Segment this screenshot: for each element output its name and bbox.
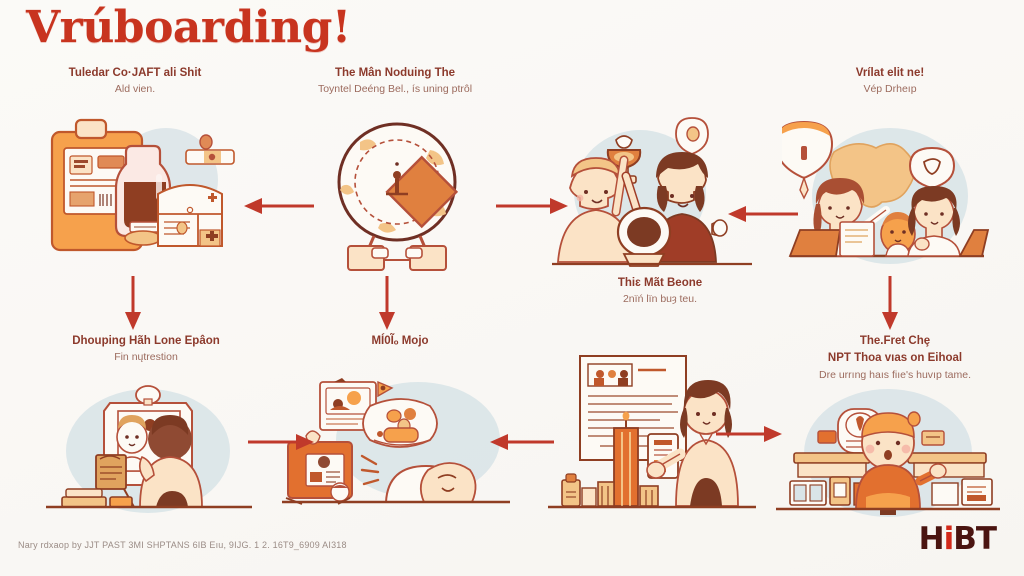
logo-text-i: i: [944, 521, 954, 557]
arrow-step7-to-step6: [490, 432, 556, 452]
caption-step-5: Dhouping Hãh Lone Epâon Fin nųtrestion: [18, 334, 274, 365]
caption-step-5-heading: Dhouping Hãh Lone Epâon: [18, 334, 274, 348]
caption-step-8-heading-line2: NPT Thoa vıas on Eihoal: [770, 351, 1020, 365]
caption-step-8-heading: The.Fret Chȩ: [770, 334, 1020, 348]
illustration-two-people-trophy-celebration: [552, 112, 752, 270]
illustration-person-shop-counter: [772, 385, 1004, 517]
arrow-step2-to-step3: [496, 196, 568, 216]
caption-step-4-heading: Vrílat elit ne!: [790, 66, 990, 80]
caption-step-2-subheading: Toyntel Deéng Bel., ís uning ptrôl: [270, 83, 520, 96]
illustration-person-easel-painting: [40, 385, 260, 517]
caption-step-8: The.Fret Chȩ NPT Thoa vıas on Eihoal Dre…: [770, 334, 1020, 382]
illustration-tv-tray-sleeping-figure: [282, 378, 514, 510]
logo-text-bt: BT: [953, 521, 996, 557]
arrow-step7-to-step8: [716, 424, 782, 444]
caption-step-4: Vrílat elit ne! Vép Drheıp: [790, 66, 990, 97]
caption-step-1: Tuledar Co·JAFT ali Shit Ald vien.: [20, 66, 250, 97]
caption-step-6: MÍ0Ĩₒ Mojo: [300, 334, 500, 351]
illustration-clipboard-bottle-cabinet: [38, 118, 268, 283]
arrow-step5-to-step6: [248, 432, 314, 452]
caption-step-3: Thiɛ Mãt Beone 2nïń lïn buȝ teu.: [540, 276, 780, 307]
caption-step-8-subheading: Dre urrıng haıs fiıe's huvıp tame.: [770, 369, 1020, 382]
page-title: Vrúboarding!: [26, 2, 351, 53]
caption-step-2-heading: The Mân Noduing The: [270, 66, 520, 80]
caption-step-2: The Mân Noduing The Toyntel Deéng Bel., …: [270, 66, 520, 97]
caption-step-3-subheading: 2nïń lïn buȝ teu.: [540, 293, 780, 306]
infographic-poster: Vrúboarding! Tuledar Co·JAFT ali Shit Al…: [0, 0, 1024, 576]
caption-step-6-heading: MÍ0Ĩₒ Mojo: [300, 334, 500, 348]
illustration-team-laptops-balloons: [782, 110, 992, 270]
arrow-step2-down: [377, 276, 397, 330]
caption-step-3-heading: Thiɛ Mãt Beone: [540, 276, 780, 290]
caption-step-4-subheading: Vép Drheıp: [790, 83, 990, 96]
arrow-step1-down: [123, 276, 143, 330]
arrow-step2-to-step1: [244, 196, 316, 216]
illustration-round-plate-emblem-stand: [302, 120, 492, 280]
footer-note: Nary rdxaop by JJT PAST 3MI SHPTANS 6IB …: [18, 540, 347, 550]
arrow-step4-to-step3: [728, 204, 800, 224]
logo-text-h: H: [919, 521, 944, 557]
brand-logo: HiBT: [919, 524, 996, 555]
arrow-step4-down: [880, 276, 900, 330]
caption-step-5-subheading: Fin nųtrestion: [18, 351, 274, 364]
caption-step-1-subheading: Ald vien.: [20, 83, 250, 96]
caption-step-1-heading: Tuledar Co·JAFT ali Shit: [20, 66, 250, 80]
